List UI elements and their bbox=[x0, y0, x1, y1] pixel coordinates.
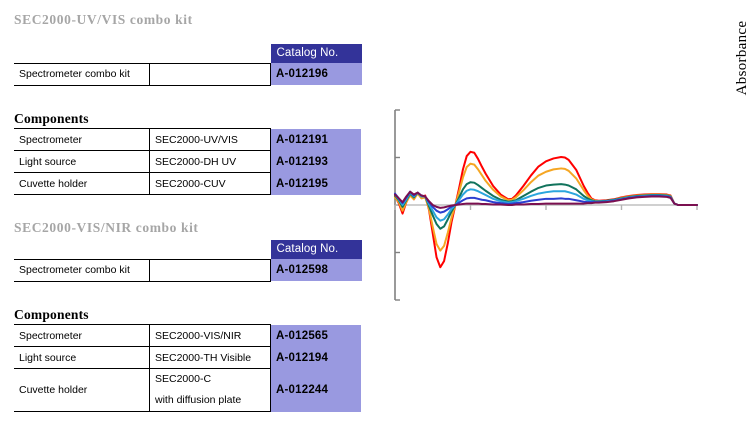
cell-model-line2: with diffusion plate bbox=[155, 390, 265, 411]
table-row: Spectrometer combo kit A-012196 bbox=[14, 63, 362, 85]
header-catalog-no: Catalog No. bbox=[271, 44, 362, 63]
table-header-row: Catalog No. bbox=[14, 240, 362, 259]
cell-item-name: Light source bbox=[14, 151, 150, 173]
cell-model: SEC2000-DH UV bbox=[150, 151, 271, 173]
table-row: Light source SEC2000-DH UV A-012193 bbox=[14, 151, 361, 173]
cell-model: SEC2000-C with diffusion plate bbox=[150, 369, 271, 412]
kit-table-visnir: Catalog No. Spectrometer combo kit A-012… bbox=[14, 240, 362, 282]
table-row: Cuvette holder SEC2000-C with diffusion … bbox=[14, 369, 361, 412]
cell-item-name: Spectrometer bbox=[14, 129, 150, 151]
table-row: Cuvette holder SEC2000-CUV A-012195 bbox=[14, 173, 361, 195]
components-table-uvvis: Spectrometer SEC2000-UV/VIS A-012191 Lig… bbox=[14, 128, 361, 195]
header-blank-name bbox=[14, 240, 150, 259]
cell-item-name: Spectrometer combo kit bbox=[14, 259, 150, 281]
page-root: SEC2000-UV/VIS combo kit Catalog No. Spe… bbox=[0, 0, 750, 446]
chart-plot-area bbox=[375, 0, 750, 446]
cell-model bbox=[150, 63, 271, 85]
header-blank-model bbox=[150, 44, 271, 63]
table-row: Spectrometer SEC2000-VIS/NIR A-012565 bbox=[14, 325, 361, 347]
cell-model-line1: SEC2000-C bbox=[155, 369, 265, 390]
cell-model: SEC2000-CUV bbox=[150, 173, 271, 195]
cell-model bbox=[150, 259, 271, 281]
kits-column: SEC2000-UV/VIS combo kit Catalog No. Spe… bbox=[0, 0, 375, 446]
kit-title-visnir: SEC2000-VIS/NIR combo kit bbox=[14, 220, 199, 236]
kit-title-uvvis: SEC2000-UV/VIS combo kit bbox=[14, 12, 193, 28]
components-heading-uvvis: Components bbox=[14, 111, 89, 127]
table-row: Spectrometer combo kit A-012598 bbox=[14, 259, 362, 281]
cell-item-name: Cuvette holder bbox=[14, 173, 150, 195]
components-table-visnir: Spectrometer SEC2000-VIS/NIR A-012565 Li… bbox=[14, 324, 361, 412]
cell-model: SEC2000-VIS/NIR bbox=[150, 325, 271, 347]
cell-catalog-no: A-012244 bbox=[271, 369, 362, 412]
cell-item-name: Spectrometer bbox=[14, 325, 150, 347]
cell-catalog-no: A-012195 bbox=[271, 173, 362, 195]
table-row: Light source SEC2000-TH Visible A-012194 bbox=[14, 347, 361, 369]
kit-table-uvvis: Catalog No. Spectrometer combo kit A-012… bbox=[14, 44, 362, 86]
components-heading-visnir: Components bbox=[14, 307, 89, 323]
cell-item-name: Cuvette holder bbox=[14, 369, 150, 412]
cell-model: SEC2000-UV/VIS bbox=[150, 129, 271, 151]
absorbance-chart: Absorbance Wavelength (nm) 0.2 0.1 0 -0.… bbox=[375, 0, 750, 446]
cell-catalog-no: A-012191 bbox=[271, 129, 362, 151]
cell-catalog-no: A-012598 bbox=[271, 259, 362, 281]
cell-item-name: Light source bbox=[14, 347, 150, 369]
cell-catalog-no: A-012196 bbox=[271, 63, 362, 85]
cell-catalog-no: A-012565 bbox=[271, 325, 362, 347]
header-blank-model bbox=[150, 240, 271, 259]
cell-catalog-no: A-012194 bbox=[271, 347, 362, 369]
table-row: Spectrometer SEC2000-UV/VIS A-012191 bbox=[14, 129, 361, 151]
cell-item-name: Spectrometer combo kit bbox=[14, 63, 150, 85]
header-catalog-no: Catalog No. bbox=[271, 240, 362, 259]
header-blank-name bbox=[14, 44, 150, 63]
table-header-row: Catalog No. bbox=[14, 44, 362, 63]
cell-catalog-no: A-012193 bbox=[271, 151, 362, 173]
cell-model: SEC2000-TH Visible bbox=[150, 347, 271, 369]
